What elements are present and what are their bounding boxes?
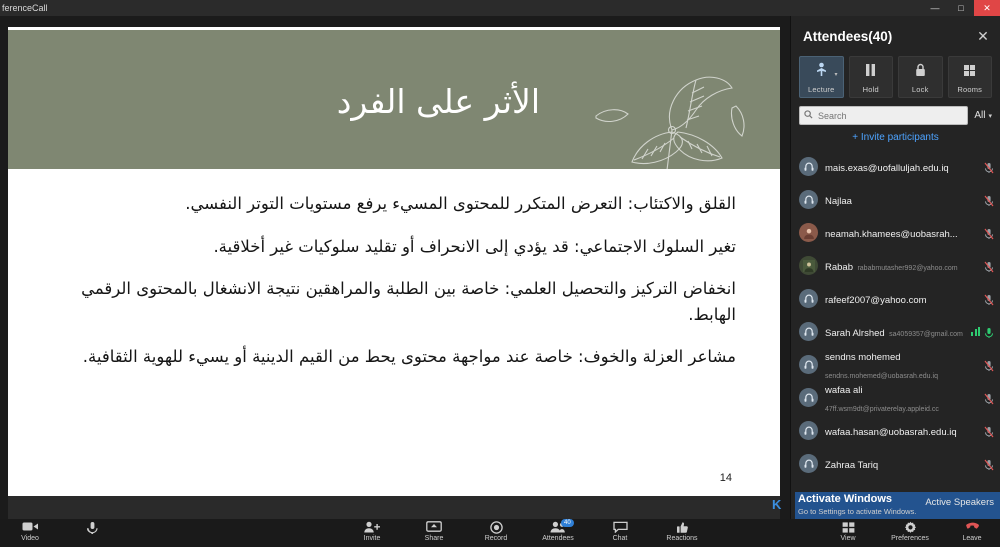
slide-bullet: القلق والاكتئاب: التعرض المتكرر للمحتوى … bbox=[52, 191, 736, 217]
slide-bullet: انخفاض التركيز والتحصيل العلمي: خاصة بين… bbox=[52, 276, 736, 327]
attendee-name: mais.exas@uofalluljah.edu.iq bbox=[825, 163, 949, 174]
slide-title: الأثر على الفرد bbox=[337, 82, 540, 121]
chat-button-label: Chat bbox=[600, 534, 640, 543]
attendee-name: wafaa.hasan@uobasrah.edu.iq bbox=[825, 427, 957, 438]
attendee-filter-dropdown[interactable]: All ▾ bbox=[974, 110, 992, 121]
headset-icon bbox=[799, 454, 818, 473]
attendee-meta: Najlaa bbox=[825, 191, 977, 209]
attendees-button-label: Attendees bbox=[538, 534, 578, 543]
search-input[interactable] bbox=[816, 110, 963, 122]
slide-header-band: الأثر على الفرد bbox=[8, 27, 780, 169]
lecture-mode-button[interactable]: ▾ Lecture bbox=[799, 56, 844, 98]
mic-muted-icon[interactable] bbox=[984, 260, 994, 272]
attendee-status-icons bbox=[984, 392, 994, 404]
attendee-status-icons bbox=[984, 458, 994, 470]
close-icon[interactable]: ✕ bbox=[974, 28, 992, 45]
tool-label: Hold bbox=[863, 85, 879, 94]
mic-muted-icon[interactable] bbox=[984, 293, 994, 305]
slide-page-number: 14 bbox=[720, 472, 732, 484]
view-button[interactable]: View bbox=[828, 519, 868, 543]
attendee-list[interactable]: mais.exas@uofalluljah.edu.iq Najlaa neam… bbox=[791, 150, 1000, 506]
attendee-name: wafaa ali bbox=[825, 385, 863, 396]
video-toggle-label: Video bbox=[10, 534, 50, 543]
attendee-name: Zahraa Tariq bbox=[825, 460, 878, 471]
tool-label: Lock bbox=[912, 85, 929, 94]
list-item[interactable]: wafaa ali 47ff.wsm9dt@privaterelay.apple… bbox=[791, 381, 1000, 414]
attendee-meta: Sarah Alrshed sa4059357@gmail.com bbox=[825, 323, 964, 341]
share-button[interactable]: Share bbox=[414, 519, 454, 543]
gear-icon bbox=[890, 521, 930, 534]
avatar bbox=[799, 256, 818, 275]
attendees-button[interactable]: 40 Attendees bbox=[538, 519, 578, 543]
attendee-email: sendns.mohemed@uobasrah.edu.iq bbox=[825, 373, 938, 380]
preferences-button-label: Preferences bbox=[890, 534, 930, 543]
grid-view-icon bbox=[828, 521, 868, 534]
slide-bullet: تغير السلوك الاجتماعي: قد يؤدي إلى الانح… bbox=[52, 234, 736, 260]
rooms-button[interactable]: Rooms bbox=[948, 56, 993, 98]
attendee-meta: Zahraa Tariq bbox=[825, 455, 977, 473]
attendee-name: Najlaa bbox=[825, 196, 852, 207]
attendee-status-icons bbox=[984, 359, 994, 371]
meeting-toolbar: Video Invite Share Record bbox=[0, 519, 1000, 547]
tool-label: Lecture bbox=[808, 85, 834, 94]
attendee-meta: rafeef2007@yahoo.com bbox=[825, 290, 977, 308]
attendee-status-icons bbox=[984, 260, 994, 272]
active-speakers-label[interactable]: Active Speakers bbox=[925, 497, 994, 508]
mic-muted-icon[interactable] bbox=[984, 425, 994, 437]
mic-muted-icon[interactable] bbox=[984, 458, 994, 470]
leave-call-icon bbox=[952, 521, 992, 534]
attendee-email: sa4059357@gmail.com bbox=[889, 331, 963, 338]
attendee-name: rafeef2007@yahoo.com bbox=[825, 295, 927, 306]
attendees-panel-title: Attendees(40) bbox=[803, 29, 974, 44]
attendee-meta: mais.exas@uofalluljah.edu.iq bbox=[825, 158, 977, 176]
chevron-down-icon: ▾ bbox=[834, 71, 837, 78]
slide-bottom-strip bbox=[8, 496, 780, 519]
camera-icon bbox=[10, 521, 50, 534]
record-icon bbox=[476, 521, 516, 534]
mic-muted-icon[interactable] bbox=[984, 194, 994, 206]
slide-body: القلق والاكتئاب: التعرض المتكرر للمحتوى … bbox=[8, 169, 780, 370]
tool-label: Rooms bbox=[957, 85, 982, 94]
list-item[interactable]: Rabab rababmutasher992@yahoo.com bbox=[791, 249, 1000, 282]
attendee-status-icons bbox=[984, 194, 994, 206]
brand-mark-icon: K bbox=[772, 497, 781, 512]
toolbar-center-group: Invite Share Record 40 Attendees Chat bbox=[352, 519, 702, 547]
list-item[interactable]: sendns mohemed sendns.mohemed@uobasrah.e… bbox=[791, 348, 1000, 381]
presentation-stage[interactable]: الأثر على الفرد bbox=[0, 16, 790, 519]
toolbar-left-group: Video bbox=[10, 519, 112, 547]
attendee-status-icons bbox=[984, 293, 994, 305]
list-item[interactable]: rafeef2007@yahoo.com bbox=[791, 282, 1000, 315]
mic-muted-icon[interactable] bbox=[984, 359, 994, 371]
window-close-button[interactable]: ✕ bbox=[974, 0, 1000, 16]
search-icon bbox=[804, 110, 813, 121]
video-toggle-button[interactable]: Video bbox=[10, 519, 50, 543]
flower-decoration-icon bbox=[568, 60, 758, 169]
invite-participants-link[interactable]: + Invite participants bbox=[791, 131, 1000, 150]
list-item[interactable]: wafaa.hasan@uobasrah.edu.iq bbox=[791, 414, 1000, 447]
lock-button[interactable]: Lock bbox=[898, 56, 943, 98]
attendee-meta: Rabab rababmutasher992@yahoo.com bbox=[825, 257, 977, 275]
preferences-button[interactable]: Preferences bbox=[890, 519, 930, 543]
attendee-meta: wafaa ali 47ff.wsm9dt@privaterelay.apple… bbox=[825, 380, 977, 416]
headset-icon bbox=[799, 355, 818, 374]
attendee-name: sendns mohemed bbox=[825, 352, 901, 363]
chevron-down-icon: ▾ bbox=[988, 112, 992, 120]
lock-icon bbox=[899, 62, 942, 79]
share-screen-icon bbox=[414, 521, 454, 534]
window-buttons: — □ ✕ bbox=[922, 0, 1000, 16]
attendee-meta: sendns mohemed sendns.mohemed@uobasrah.e… bbox=[825, 347, 977, 383]
list-item[interactable]: neamah.khamees@uobasrah... bbox=[791, 216, 1000, 249]
hold-button[interactable]: Hold bbox=[849, 56, 894, 98]
rooms-grid-icon bbox=[949, 62, 992, 79]
mic-on-icon[interactable] bbox=[984, 326, 994, 338]
list-item[interactable]: Sarah Alrshed sa4059357@gmail.com bbox=[791, 315, 1000, 348]
attendee-email: 47ff.wsm9dt@privaterelay.appleid.cc bbox=[825, 406, 939, 413]
mic-toggle-button[interactable] bbox=[72, 519, 112, 534]
headset-icon bbox=[799, 421, 818, 440]
attendee-name: Rabab bbox=[825, 262, 853, 273]
attendee-meta: wafaa.hasan@uobasrah.edu.iq bbox=[825, 422, 977, 440]
attendees-panel-header: Attendees(40) ✕ bbox=[791, 16, 1000, 56]
attendee-status-icons bbox=[984, 227, 994, 239]
attendee-status-icons bbox=[984, 161, 994, 173]
reactions-button-label: Reactions bbox=[662, 534, 702, 543]
leave-button[interactable]: Leave bbox=[952, 519, 992, 543]
mic-icon bbox=[72, 521, 112, 534]
add-person-icon bbox=[352, 521, 392, 534]
attendee-status-icons bbox=[971, 326, 994, 338]
list-item[interactable]: Zahraa Tariq bbox=[791, 447, 1000, 480]
attendee-filter-label: All bbox=[974, 110, 985, 121]
reactions-button[interactable]: Reactions bbox=[662, 519, 702, 543]
attendee-name: neamah.khamees@uobasrah... bbox=[825, 229, 958, 240]
leave-button-label: Leave bbox=[952, 534, 992, 543]
mic-muted-icon[interactable] bbox=[984, 227, 994, 239]
chat-icon bbox=[600, 521, 640, 534]
panel-search-row: All ▾ bbox=[791, 104, 1000, 131]
audio-level-indicator bbox=[971, 327, 980, 336]
headset-icon bbox=[799, 289, 818, 308]
mic-muted-icon[interactable] bbox=[984, 392, 994, 404]
invite-button-label: Invite bbox=[352, 534, 392, 543]
panel-tool-row: ▾ Lecture Hold Lock Rooms bbox=[791, 56, 1000, 104]
attendees-panel: Attendees(40) ✕ ▾ Lecture Hold Lock bbox=[790, 16, 1000, 519]
slide-bullet: مشاعر العزلة والخوف: خاصة عند مواجهة محت… bbox=[52, 344, 736, 370]
headset-icon bbox=[799, 388, 818, 407]
invite-button[interactable]: Invite bbox=[352, 519, 392, 543]
attendee-meta: neamah.khamees@uobasrah... bbox=[825, 224, 977, 242]
record-button[interactable]: Record bbox=[476, 519, 516, 543]
list-item[interactable]: Najlaa bbox=[791, 183, 1000, 216]
attendee-name: Sarah Alrshed bbox=[825, 328, 885, 339]
attendees-count-badge: 40 bbox=[561, 519, 574, 527]
chat-button[interactable]: Chat bbox=[600, 519, 640, 543]
share-button-label: Share bbox=[414, 534, 454, 543]
headset-icon bbox=[799, 190, 818, 209]
pause-icon bbox=[850, 62, 893, 79]
window-minimize-button[interactable]: — bbox=[922, 0, 948, 16]
toolbar-right-group: View Preferences Leave bbox=[828, 519, 992, 547]
slide-canvas: الأثر على الفرد bbox=[8, 27, 780, 496]
window-titlebar: ferenceCall — □ ✕ bbox=[0, 0, 1000, 16]
avatar bbox=[799, 223, 818, 242]
list-item[interactable]: mais.exas@uofalluljah.edu.iq bbox=[791, 150, 1000, 183]
search-input-wrapper[interactable] bbox=[799, 106, 968, 125]
attendee-status-icons bbox=[984, 425, 994, 437]
headset-icon bbox=[799, 157, 818, 176]
window-app-title: ferenceCall bbox=[2, 0, 48, 16]
window-maximize-button[interactable]: □ bbox=[948, 0, 974, 16]
view-button-label: View bbox=[828, 534, 868, 543]
record-button-label: Record bbox=[476, 534, 516, 543]
headset-icon bbox=[799, 322, 818, 341]
thumbs-up-icon bbox=[662, 521, 702, 534]
attendee-email: rababmutasher992@yahoo.com bbox=[857, 265, 957, 272]
mic-muted-icon[interactable] bbox=[984, 161, 994, 173]
